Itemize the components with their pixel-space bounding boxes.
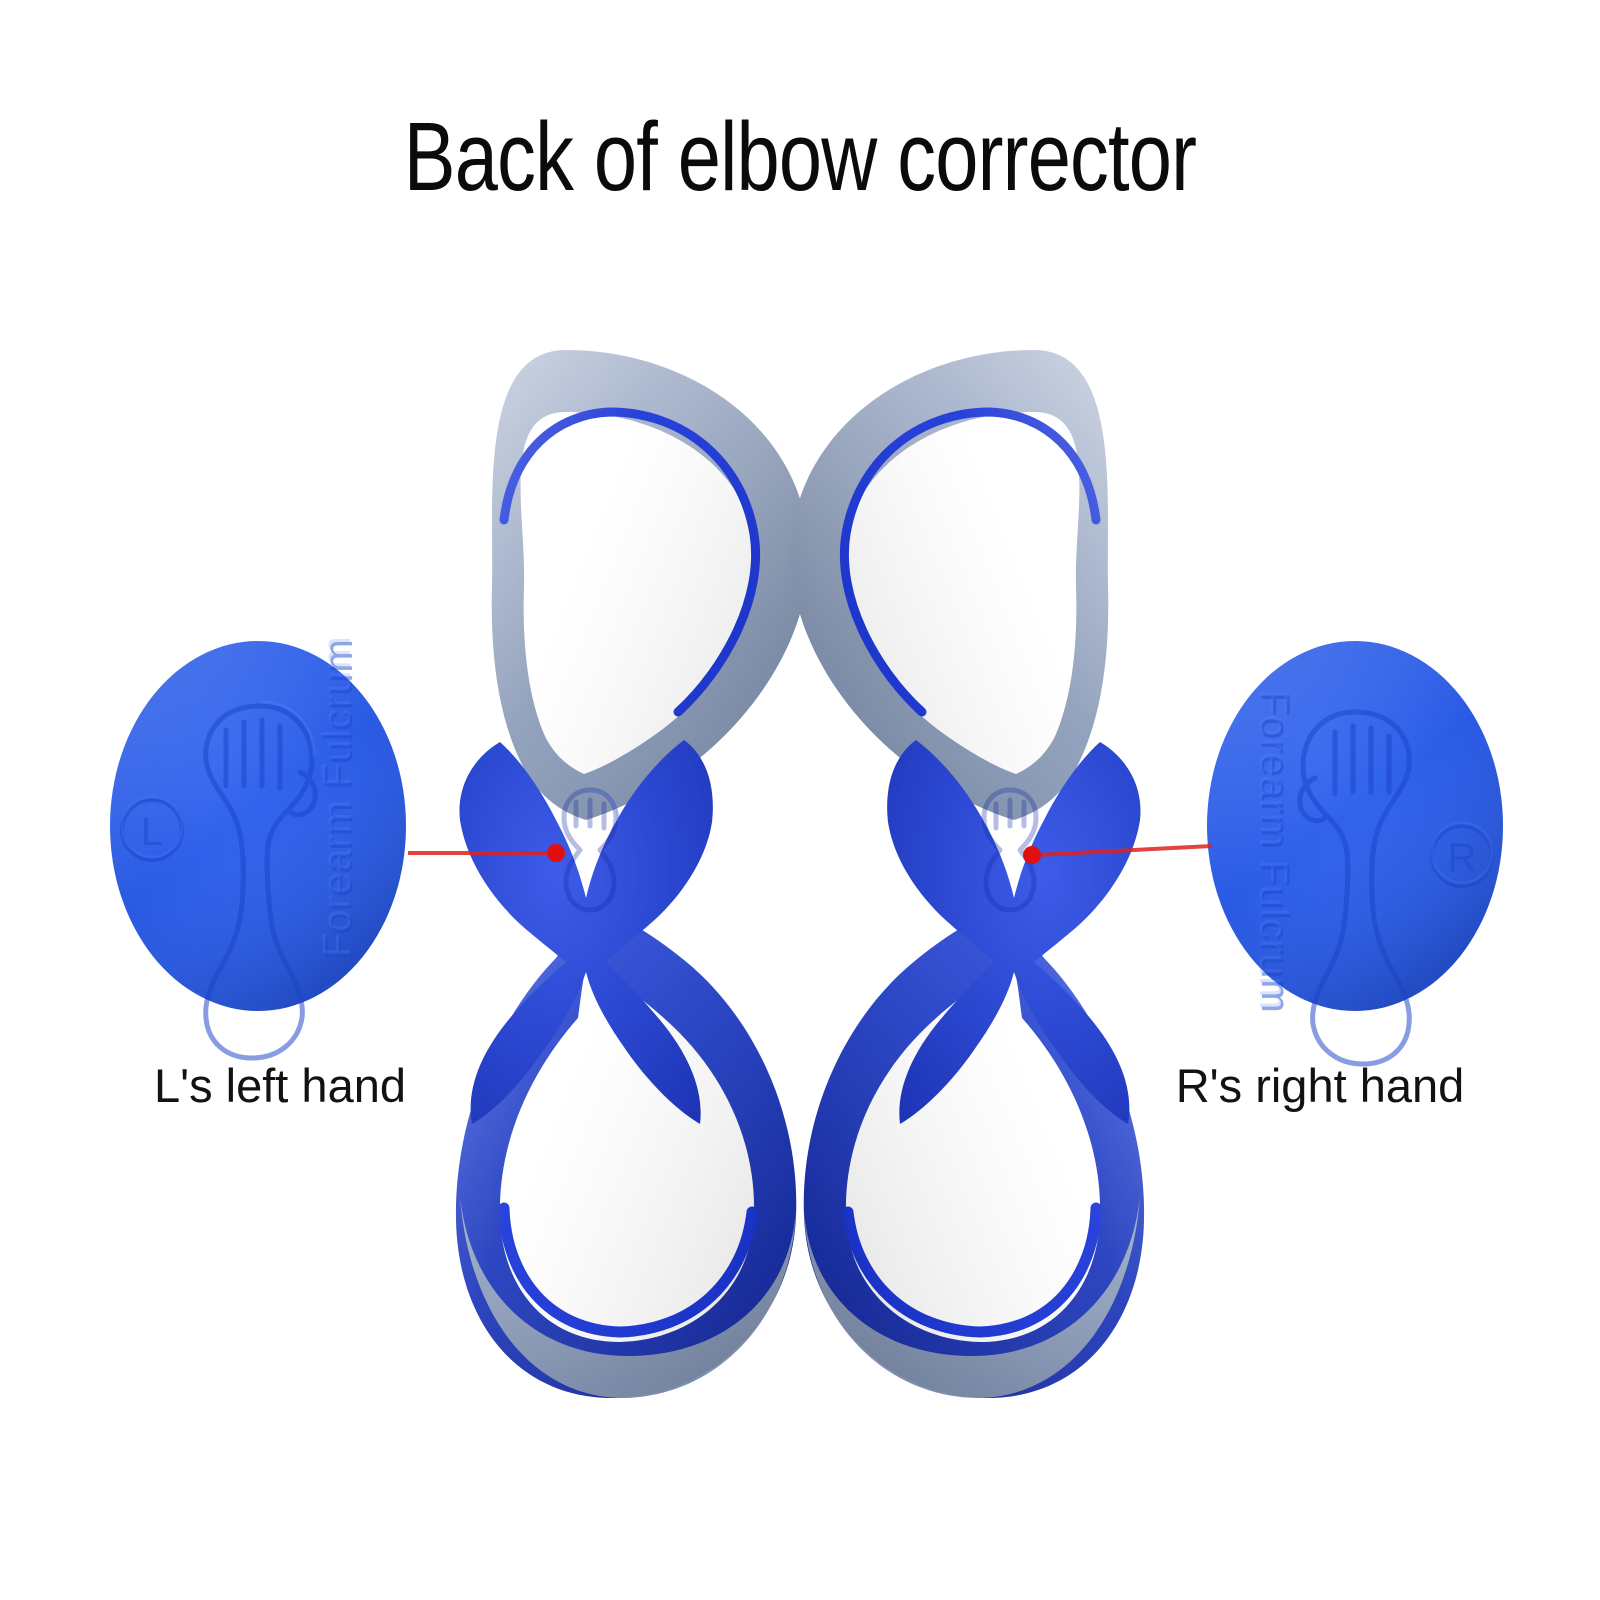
callout-leader-lines bbox=[0, 0, 1600, 1600]
infographic-canvas: Back of elbow corrector bbox=[0, 0, 1600, 1600]
left-leader-dot bbox=[547, 844, 565, 862]
right-leader-dot bbox=[1023, 846, 1041, 864]
right-leader-line bbox=[1036, 846, 1212, 855]
